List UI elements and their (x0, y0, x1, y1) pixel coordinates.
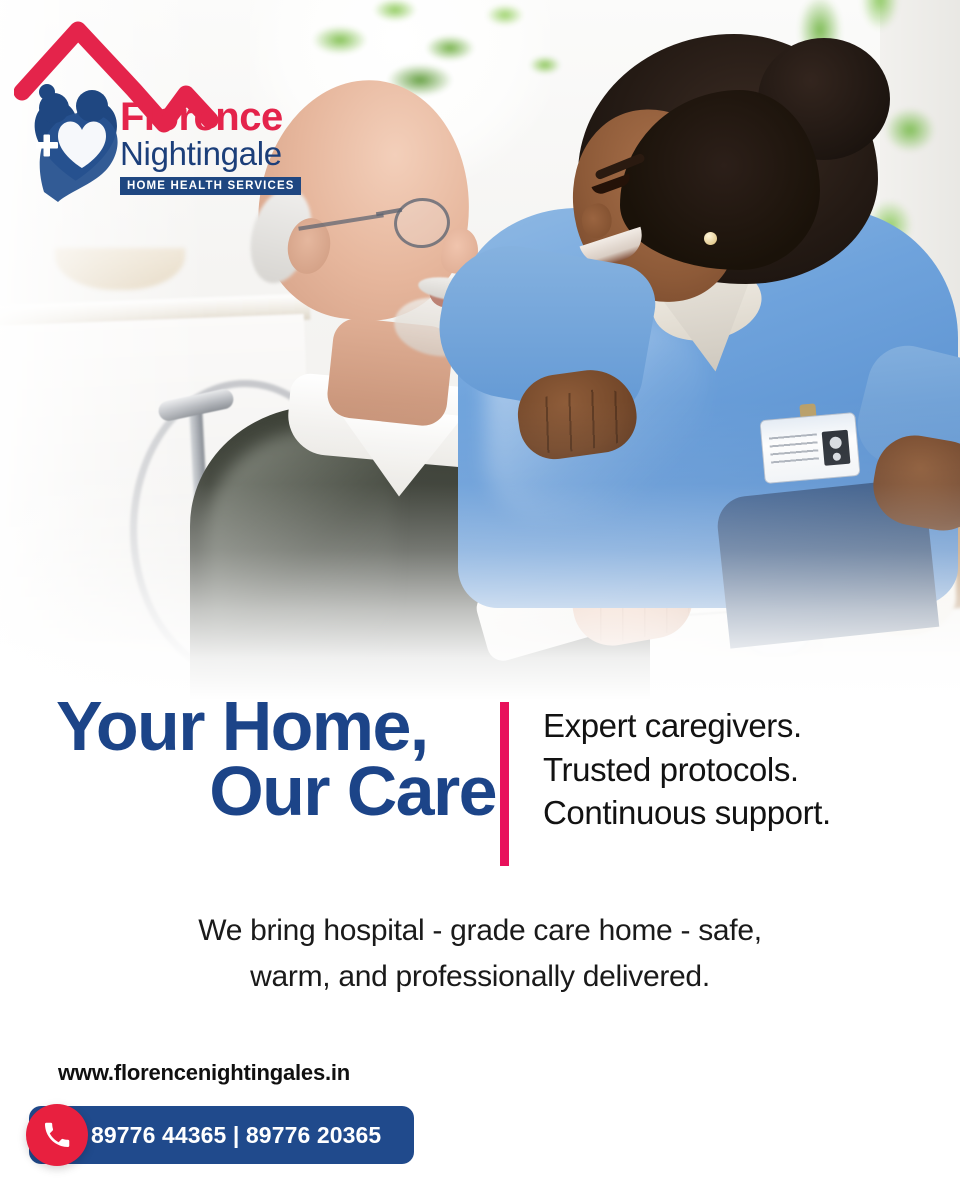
value-prop-1: Expert caregivers. (543, 704, 831, 748)
headline-line1: Your Home, (56, 694, 500, 759)
subtitle-line2: warm, and professionally delivered. (0, 954, 960, 1000)
nurse-id-badge (759, 412, 860, 484)
headline-line2: Our Care (56, 759, 500, 824)
website-url[interactable]: www.florencenightingales.in (58, 1060, 350, 1086)
subtitle-line1: We bring hospital - grade care home - sa… (0, 908, 960, 954)
value-prop-3: Continuous support. (543, 791, 831, 835)
subtitle-text: We bring hospital - grade care home - sa… (0, 908, 960, 999)
page-title: Your Home, Our Care (0, 694, 500, 824)
value-props-list: Expert caregivers. Trusted protocols. Co… (509, 704, 831, 835)
logo-wordmark: Florence Nightingale HOME HEALTH SERVICE… (120, 98, 310, 195)
flyer-canvas: Florence Nightingale HOME HEALTH SERVICE… (0, 0, 960, 1200)
headline-section: Your Home, Our Care Expert caregivers. T… (0, 694, 960, 866)
logo-name-line2: Nightingale (120, 137, 310, 172)
badge-portrait-icon (822, 430, 851, 466)
nurse-earring (704, 232, 717, 245)
phone-numbers[interactable]: 89776 44365 | 89776 20365 (91, 1122, 381, 1149)
caregiver-bun-icon (39, 84, 55, 100)
value-prop-2: Trusted protocols. (543, 748, 831, 792)
phone-handset-icon (41, 1119, 73, 1151)
logo-name-line1: Florence (120, 98, 310, 136)
patient-head-icon (76, 90, 108, 122)
brand-logo[interactable]: Florence Nightingale HOME HEALTH SERVICE… (14, 16, 304, 206)
phone-icon-badge[interactable] (26, 1104, 88, 1166)
patient-sweater-highlight (204, 430, 394, 700)
nurse-figure (470, 20, 960, 620)
logo-tagline-badge: HOME HEALTH SERVICES (120, 177, 301, 195)
vertical-divider (500, 702, 509, 866)
badge-text-lines (769, 433, 819, 467)
